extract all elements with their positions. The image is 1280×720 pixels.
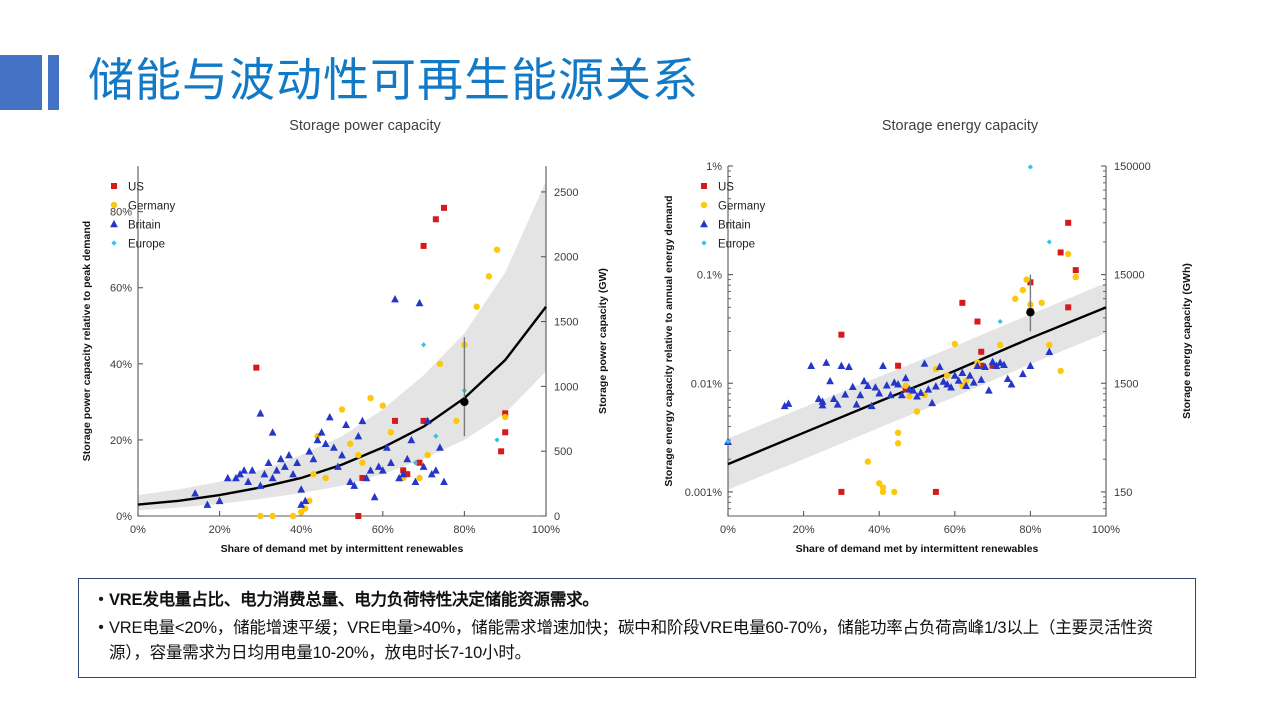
data-point-triangle bbox=[326, 413, 334, 420]
y2-axis-title: Storage power capacity (GW) bbox=[597, 268, 609, 414]
data-point-square bbox=[1058, 249, 1064, 255]
data-point-triangle bbox=[440, 478, 448, 485]
legend-label-us: US bbox=[718, 182, 734, 194]
x-tick-label: 60% bbox=[372, 524, 394, 536]
data-point-circle bbox=[1012, 296, 1018, 302]
data-point-circle bbox=[895, 430, 901, 436]
y2-tick-label: 2000 bbox=[554, 252, 578, 264]
data-point-circle bbox=[310, 471, 316, 477]
data-point-circle bbox=[895, 440, 901, 446]
y-tick-label: 0.1% bbox=[697, 270, 722, 282]
data-point-square bbox=[895, 363, 901, 369]
y2-tick-label: 150000 bbox=[1114, 161, 1151, 173]
data-point-triangle bbox=[248, 466, 256, 473]
y-axis-title: Storage power capacity relative to peak … bbox=[81, 221, 93, 461]
data-point-circle bbox=[865, 458, 871, 464]
data-point-triangle bbox=[985, 386, 993, 393]
central-estimate-marker bbox=[460, 398, 468, 406]
chart-storage-power-capacity: Storage power capacity 0%20%40%60%80%100… bbox=[70, 118, 630, 558]
data-point-square bbox=[974, 319, 980, 325]
data-point-square bbox=[1065, 304, 1071, 310]
data-point-star bbox=[1047, 239, 1052, 244]
data-point-square bbox=[421, 243, 427, 249]
data-point-circle bbox=[944, 372, 950, 378]
y2-tick-label: 15000 bbox=[1114, 270, 1145, 282]
data-point-triangle bbox=[879, 362, 887, 369]
data-point-triangle bbox=[860, 377, 868, 384]
slide-root: 储能与波动性可再生能源关系 Storage power capacity 0%2… bbox=[0, 0, 1280, 720]
data-point-square bbox=[701, 183, 707, 189]
y-tick-label: 0.001% bbox=[685, 487, 723, 499]
data-point-triangle bbox=[257, 409, 265, 416]
data-point-square bbox=[959, 300, 965, 306]
data-point-circle bbox=[494, 246, 500, 252]
x-tick-label: 20% bbox=[209, 524, 231, 536]
data-point-triangle bbox=[807, 362, 815, 369]
chart-storage-energy-capacity: Storage energy capacity 0%20%40%60%80%10… bbox=[650, 118, 1250, 558]
data-point-circle bbox=[347, 441, 353, 447]
data-point-circle bbox=[997, 342, 1003, 348]
legend-label-britain: Britain bbox=[128, 220, 161, 232]
data-point-circle bbox=[486, 273, 492, 279]
data-point-circle bbox=[1057, 368, 1063, 374]
data-point-triangle bbox=[849, 383, 857, 390]
legend: USGermanyBritainEurope bbox=[700, 182, 765, 251]
y2-tick-label: 1000 bbox=[554, 381, 578, 393]
note-text-2: VRE电量<20%，储能增速平缓；VRE电量>40%，储能需求增速加快；碳中和阶… bbox=[109, 616, 1181, 666]
data-point-circle bbox=[416, 475, 422, 481]
data-point-circle bbox=[1046, 342, 1052, 348]
bullet-icon: • bbox=[93, 588, 109, 612]
data-point-triangle bbox=[371, 493, 379, 500]
data-point-triangle bbox=[785, 399, 793, 406]
data-point-triangle bbox=[416, 299, 424, 306]
data-point-star bbox=[998, 319, 1003, 324]
best-fit-line bbox=[728, 307, 1106, 464]
list-item: • VRE发电量占比、电力消费总量、电力负荷特性决定储能资源需求。 bbox=[93, 588, 1181, 613]
data-point-square bbox=[253, 365, 259, 371]
data-point-circle bbox=[437, 361, 443, 367]
data-point-circle bbox=[952, 341, 958, 347]
data-point-circle bbox=[1020, 287, 1026, 293]
y-tick-label: 60% bbox=[110, 283, 132, 295]
y2-tick-label: 150 bbox=[1114, 487, 1132, 499]
data-point-circle bbox=[1073, 274, 1079, 280]
data-point-circle bbox=[359, 460, 365, 466]
data-point-triangle bbox=[838, 362, 846, 369]
title-accent-bar-thin bbox=[48, 55, 59, 110]
y2-axis-title: Storage energy capacity (GWh) bbox=[1181, 263, 1193, 419]
data-point-circle bbox=[269, 513, 275, 519]
x-axis-title: Share of demand met by intermittent rene… bbox=[796, 543, 1039, 555]
data-point-square bbox=[111, 183, 117, 189]
data-point-square bbox=[1073, 267, 1079, 273]
data-point-square bbox=[838, 489, 844, 495]
data-point-square bbox=[355, 513, 361, 519]
page-title: 储能与波动性可再生能源关系 bbox=[88, 50, 699, 110]
y2-tick-label: 2500 bbox=[554, 187, 578, 199]
y2-tick-label: 0 bbox=[554, 511, 560, 523]
data-point-triangle bbox=[110, 220, 118, 227]
legend-label-germany: Germany bbox=[128, 201, 176, 213]
data-point-square bbox=[838, 332, 844, 338]
summary-note-box: • VRE发电量占比、电力消费总量、电力负荷特性决定储能资源需求。 • VRE电… bbox=[78, 578, 1196, 678]
data-point-circle bbox=[290, 513, 296, 519]
data-point-circle bbox=[339, 406, 345, 412]
data-point-circle bbox=[355, 452, 361, 458]
data-point-star bbox=[1028, 164, 1033, 169]
legend-label-europe: Europe bbox=[128, 239, 165, 251]
x-tick-label: 20% bbox=[793, 524, 815, 536]
y2-tick-label: 1500 bbox=[554, 317, 578, 329]
central-estimate-marker bbox=[1026, 308, 1034, 316]
bullet-icon: • bbox=[93, 616, 109, 640]
x-tick-label: 40% bbox=[290, 524, 312, 536]
data-point-triangle bbox=[845, 363, 853, 370]
data-point-circle bbox=[1023, 276, 1029, 282]
data-point-star bbox=[421, 342, 426, 347]
x-tick-label: 80% bbox=[453, 524, 475, 536]
legend-label-germany: Germany bbox=[718, 201, 766, 213]
data-point-square bbox=[392, 418, 398, 424]
data-point-triangle bbox=[700, 220, 708, 227]
data-point-circle bbox=[906, 393, 912, 399]
note-list: • VRE发电量占比、电力消费总量、电力负荷特性决定储能资源需求。 • VRE电… bbox=[79, 579, 1195, 666]
data-point-triangle bbox=[1004, 375, 1012, 382]
data-point-square bbox=[433, 216, 439, 222]
data-point-triangle bbox=[265, 459, 273, 466]
data-point-triangle bbox=[269, 428, 277, 435]
chart-left-title: Storage power capacity bbox=[70, 118, 630, 134]
data-point-circle bbox=[453, 418, 459, 424]
y-tick-label: 40% bbox=[110, 359, 132, 371]
data-point-circle bbox=[380, 402, 386, 408]
y-tick-label: 20% bbox=[110, 435, 132, 447]
chart-right-title: Storage energy capacity bbox=[650, 118, 1250, 134]
x-tick-label: 60% bbox=[944, 524, 966, 536]
data-point-square bbox=[502, 429, 508, 435]
legend-label-britain: Britain bbox=[718, 220, 751, 232]
y-axis-title: Storage energy capacity relative to annu… bbox=[663, 195, 675, 486]
chart-right-canvas: 0%20%40%60%80%100%1%0.1%0.01%0.001%15000… bbox=[650, 138, 1250, 558]
y2-tick-label: 500 bbox=[554, 446, 572, 458]
legend-label-europe: Europe bbox=[718, 239, 755, 251]
data-point-triangle bbox=[285, 451, 293, 458]
data-point-circle bbox=[914, 408, 920, 414]
data-point-triangle bbox=[240, 466, 248, 473]
x-axis-title: Share of demand met by intermittent rene… bbox=[221, 543, 464, 555]
data-point-circle bbox=[502, 414, 508, 420]
x-tick-label: 100% bbox=[1092, 524, 1120, 536]
list-item: • VRE电量<20%，储能增速平缓；VRE电量>40%，储能需求增速加快；碳中… bbox=[93, 616, 1181, 666]
y-tick-label: 0.01% bbox=[691, 378, 722, 390]
y-tick-label: 1% bbox=[706, 161, 722, 173]
data-point-triangle bbox=[432, 466, 440, 473]
data-point-circle bbox=[902, 382, 908, 388]
y-tick-label: 0% bbox=[116, 511, 132, 523]
data-point-circle bbox=[424, 452, 430, 458]
legend-label-us: US bbox=[128, 182, 144, 194]
x-tick-label: 0% bbox=[130, 524, 146, 536]
data-point-circle bbox=[322, 475, 328, 481]
data-point-square bbox=[1065, 220, 1071, 226]
data-point-circle bbox=[473, 304, 479, 310]
x-tick-label: 100% bbox=[532, 524, 560, 536]
data-point-circle bbox=[1039, 300, 1045, 306]
data-point-square bbox=[978, 349, 984, 355]
data-point-circle bbox=[257, 513, 263, 519]
x-tick-label: 40% bbox=[868, 524, 890, 536]
data-point-star bbox=[701, 240, 706, 245]
data-point-triangle bbox=[822, 358, 830, 365]
data-point-triangle bbox=[318, 428, 326, 435]
data-point-triangle bbox=[277, 455, 285, 462]
data-point-star bbox=[111, 240, 116, 245]
title-accent-bar-wide bbox=[0, 55, 42, 110]
data-point-triangle bbox=[1019, 370, 1027, 377]
data-point-circle bbox=[891, 489, 897, 495]
data-point-star bbox=[494, 437, 499, 442]
data-point-square bbox=[498, 448, 504, 454]
data-point-triangle bbox=[391, 295, 399, 302]
data-point-triangle bbox=[224, 474, 232, 481]
data-point-square bbox=[933, 489, 939, 495]
x-tick-label: 80% bbox=[1019, 524, 1041, 536]
uncertainty-band bbox=[138, 181, 546, 510]
x-tick-label: 0% bbox=[720, 524, 736, 536]
data-point-triangle bbox=[359, 417, 367, 424]
data-point-circle bbox=[367, 395, 373, 401]
data-point-circle bbox=[388, 429, 394, 435]
data-point-circle bbox=[701, 202, 707, 208]
chart-left-canvas: 0%20%40%60%80%100%0%20%40%60%80%05001000… bbox=[70, 138, 630, 558]
data-point-triangle bbox=[342, 421, 350, 428]
data-point-circle bbox=[111, 202, 117, 208]
data-point-triangle bbox=[826, 377, 834, 384]
data-point-circle bbox=[880, 489, 886, 495]
note-text-1: VRE发电量占比、电力消费总量、电力负荷特性决定储能资源需求。 bbox=[109, 588, 599, 613]
y2-tick-label: 1500 bbox=[1114, 378, 1138, 390]
data-point-square bbox=[441, 205, 447, 211]
data-point-circle bbox=[1065, 251, 1071, 257]
